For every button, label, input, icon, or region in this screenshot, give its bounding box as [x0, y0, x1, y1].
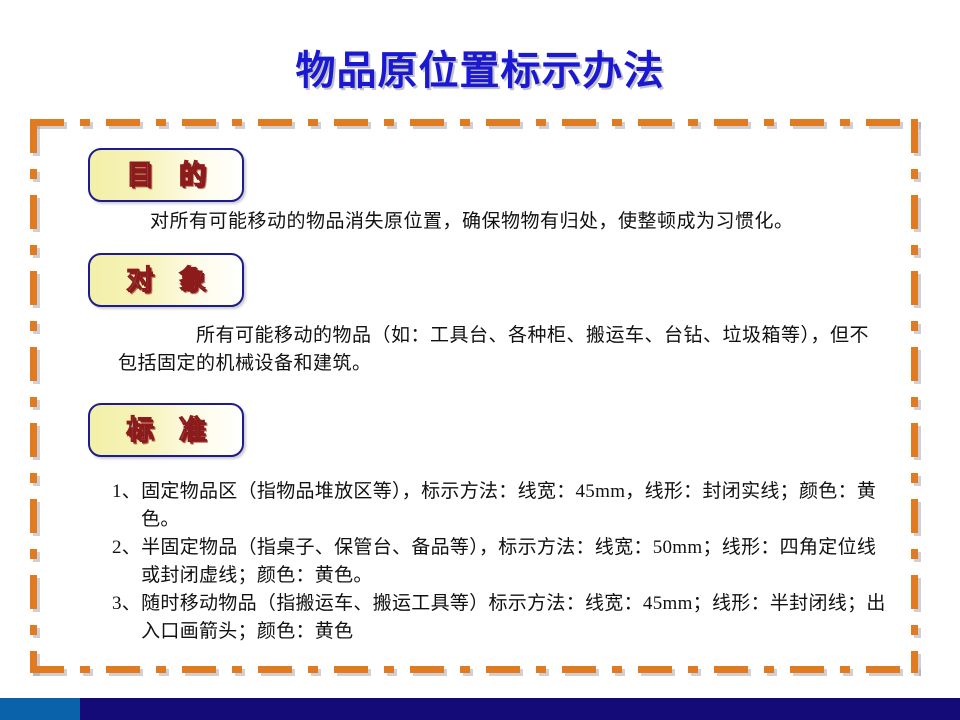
list-item-number: 2、: [112, 534, 141, 590]
list-item-text: 固定物品区（指物品堆放区等），标示方法：线宽：45mm，线形：封闭实线；颜色：黄…: [141, 478, 890, 534]
list-item-number: 1、: [112, 478, 141, 534]
standard-list: 1、 固定物品区（指物品堆放区等），标示方法：线宽：45mm，线形：封闭实线；颜…: [112, 478, 890, 646]
section-pill-standard-label: 标 准: [117, 417, 215, 444]
list-item-text: 随时移动物品（指搬运车、搬运工具等）标示方法：线宽：45mm；线形：半封闭线；出…: [141, 590, 890, 646]
list-item: 3、 随时移动物品（指搬运车、搬运工具等）标示方法：线宽：45mm；线形：半封闭…: [112, 590, 890, 646]
list-item: 1、 固定物品区（指物品堆放区等），标示方法：线宽：45mm，线形：封闭实线；颜…: [112, 478, 890, 534]
frame-border-left: [30, 119, 37, 673]
section-pill-purpose-label: 目 的: [117, 162, 215, 189]
list-item: 2、 半固定物品（指桌子、保管台、备品等），标示方法：线宽：50mm；线形：四角…: [112, 534, 890, 590]
section-pill-scope-label: 对 象: [117, 267, 215, 294]
bottom-decorative-bar: [0, 698, 960, 720]
frame-border-top: [30, 119, 918, 126]
section-pill-standard: 标 准: [88, 403, 244, 457]
list-item-number: 3、: [112, 590, 141, 646]
frame-border-bottom: [30, 666, 918, 673]
purpose-body-text: 对所有可能移动的物品消失原位置，确保物物有归处，使整顿成为习惯化。: [150, 208, 890, 236]
section-pill-purpose: 目 的: [88, 148, 244, 202]
section-pill-scope: 对 象: [88, 253, 244, 307]
frame-border-right: [911, 119, 918, 673]
scope-body-text: 所有可能移动的物品（如：工具台、各种柜、搬运车、台钻、垃圾箱等），但不包括固定的…: [118, 322, 878, 378]
slide-title: 物品原位置标示办法: [0, 38, 960, 96]
list-item-text: 半固定物品（指桌子、保管台、备品等），标示方法：线宽：50mm；线形：四角定位线…: [141, 534, 890, 590]
bottom-bar-accent: [0, 698, 80, 720]
